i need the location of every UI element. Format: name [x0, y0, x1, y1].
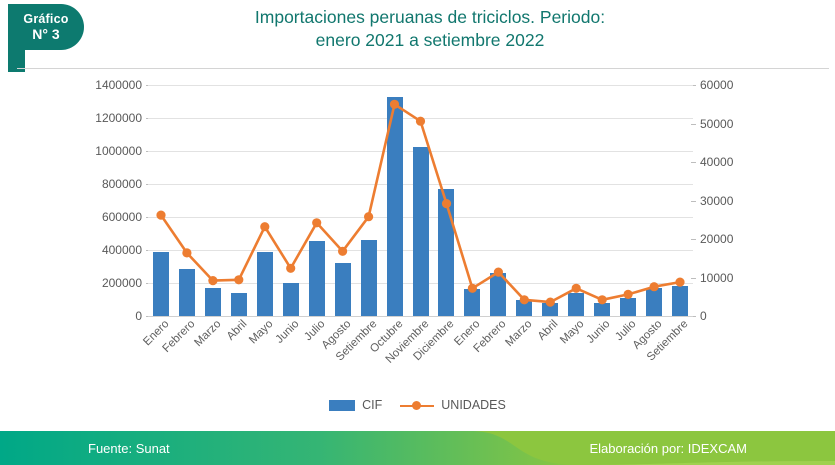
badge-line-1: Gráfico — [8, 12, 84, 26]
y-tick-right: 10000 — [700, 271, 733, 285]
line-marker-unidades: Agosto: 7600 — [650, 282, 659, 291]
title-line-2: enero 2021 a setiembre 2022 — [150, 29, 710, 52]
legend-label-unidades: UNIDADES — [441, 398, 506, 412]
line-marker-unidades: Marzo: 9200 — [208, 276, 217, 285]
y-axis-left: 0200000400000600000800000100000012000001… — [70, 85, 142, 316]
line-marker-unidades: Junio: 4200 — [598, 295, 607, 304]
gridline — [148, 316, 693, 317]
legend-swatch-line-icon — [400, 400, 434, 411]
y-tick-left: 200000 — [102, 276, 142, 290]
badge-body: Gráfico N° 3 — [8, 4, 84, 50]
line-marker-unidades: Julio: 5600 — [624, 290, 633, 299]
legend-item-cif[interactable]: CIF — [329, 398, 382, 412]
line-marker-unidades: Diciembre: 29200 — [442, 199, 451, 208]
chart-legend: CIF UNIDADES — [0, 398, 835, 412]
plot-area: Enero: 26200Febrero: 16400Marzo: 9200Abr… — [148, 85, 693, 316]
line-marker-unidades: Marzo: 4200 — [520, 295, 529, 304]
y-tick-right: 50000 — [700, 117, 733, 131]
footer-source-text: Fuente: Sunat — [88, 431, 170, 465]
y-tick-right: 30000 — [700, 194, 733, 208]
y-tick-right: 0 — [700, 309, 707, 323]
line-marker-unidades: Octubre: 55000 — [390, 100, 399, 109]
y-tick-left: 600000 — [102, 210, 142, 224]
line-marker-unidades: Mayo: 7200 — [572, 284, 581, 293]
line-marker-unidades: Agosto: 16800 — [338, 247, 347, 256]
y-tick-left: 800000 — [102, 177, 142, 191]
y-tick-left: 0 — [135, 309, 142, 323]
line-path-unidades — [161, 104, 680, 302]
y-tick-right: 40000 — [700, 155, 733, 169]
line-marker-unidades: Abril: 9400 — [234, 275, 243, 284]
line-marker-unidades: Febrero: 11400 — [494, 268, 503, 277]
y-tick-right: 60000 — [700, 78, 733, 92]
y-tick-left: 400000 — [102, 243, 142, 257]
line-marker-unidades: Junio: 12400 — [286, 264, 295, 273]
line-marker-unidades: Setiembre: 25800 — [364, 212, 373, 221]
footer-author-text: Elaboración por: IDEXCAM — [589, 431, 747, 465]
line-marker-unidades: Febrero: 16400 — [182, 248, 191, 257]
x-axis-labels: EneroFebreroMarzoAbrilMayoJunioJulioAgos… — [148, 318, 693, 388]
line-series-unidades: Enero: 26200Febrero: 16400Marzo: 9200Abr… — [148, 85, 693, 316]
y-axis-right: 0100002000030000400005000060000 — [700, 85, 770, 316]
line-marker-unidades: Enero: 26200 — [156, 211, 165, 220]
legend-label-cif: CIF — [362, 398, 382, 412]
line-marker-unidades: Abril: 3600 — [546, 298, 555, 307]
y-tick-left: 1400000 — [95, 78, 142, 92]
y-tick-left: 1000000 — [95, 144, 142, 158]
legend-swatch-bar-icon — [329, 400, 355, 411]
line-marker-unidades: Mayo: 23200 — [260, 222, 269, 231]
footer-bar: Fuente: Sunat Elaboración por: IDEXCAM — [0, 431, 835, 465]
line-marker-unidades: Setiembre: 8800 — [675, 278, 684, 287]
y-tick-right: 20000 — [700, 232, 733, 246]
line-marker-unidades: Julio: 24200 — [312, 218, 321, 227]
legend-item-unidades[interactable]: UNIDADES — [400, 398, 506, 412]
y-tick-left: 1200000 — [95, 111, 142, 125]
line-marker-unidades: Enero: 7200 — [468, 284, 477, 293]
page-title: Importaciones peruanas de triciclos. Per… — [150, 6, 710, 52]
chart-number-badge: Gráfico N° 3 — [8, 4, 128, 70]
title-line-1: Importaciones peruanas de triciclos. Per… — [150, 6, 710, 29]
header-divider — [17, 68, 829, 69]
badge-line-2: N° 3 — [8, 26, 84, 42]
line-marker-unidades: Noviembre: 50600 — [416, 117, 425, 126]
